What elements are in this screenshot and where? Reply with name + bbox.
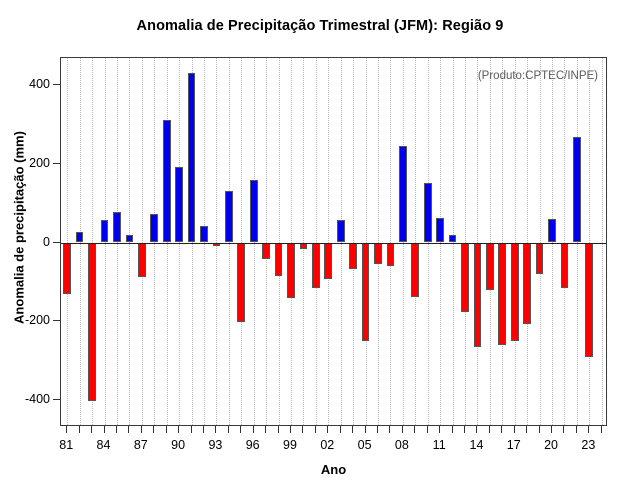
x-tick-label: 96 (246, 438, 260, 452)
x-tick (290, 426, 291, 433)
x-tick-label: 84 (97, 438, 111, 452)
plot-area: (Produto:CPTEC/INPE) (60, 57, 607, 426)
x-tick (452, 426, 453, 433)
x-tick (91, 426, 92, 433)
x-axis: 818487909396990205081114172023 Ano (60, 426, 607, 486)
x-tick-label: 11 (433, 438, 446, 452)
bar (324, 243, 332, 279)
x-tick (340, 426, 341, 433)
y-tick (53, 242, 60, 243)
x-tick (352, 426, 353, 433)
x-tick (464, 426, 465, 433)
x-axis-title: Ano (60, 462, 607, 477)
y-tick-label: -200 (25, 313, 50, 327)
x-tick-label: 20 (544, 438, 558, 452)
x-tick (539, 426, 540, 433)
x-tick (414, 426, 415, 433)
x-tick (489, 426, 490, 433)
bar (88, 243, 96, 402)
y-axis-title: Anomalia de precipitação (mm) (12, 63, 27, 393)
y-axis: -400-2000200400 Anomalia de precipitação… (0, 57, 60, 426)
y-tick-label: 400 (29, 77, 50, 91)
product-annotation: (Produto:CPTEC/INPE) (478, 70, 598, 82)
x-tick (302, 426, 303, 433)
x-tick-label: 23 (581, 438, 595, 452)
x-tick (104, 426, 105, 433)
x-tick (439, 426, 440, 433)
y-tick-label: 0 (43, 235, 50, 249)
x-tick (203, 426, 204, 433)
bar-group (61, 58, 606, 425)
x-tick-label: 99 (283, 438, 297, 452)
y-tick (53, 399, 60, 400)
bar (411, 243, 419, 298)
x-tick (551, 426, 552, 433)
x-tick (141, 426, 142, 433)
x-tick (601, 426, 602, 433)
x-tick (563, 426, 564, 433)
x-tick-label: 81 (59, 438, 73, 452)
bar (498, 243, 506, 345)
x-tick (253, 426, 254, 433)
x-tick-label: 05 (358, 438, 372, 452)
bar (200, 226, 208, 242)
x-tick (501, 426, 502, 433)
x-tick (128, 426, 129, 433)
x-tick-label: 08 (395, 438, 409, 452)
x-tick (327, 426, 328, 433)
bar (486, 243, 494, 290)
bar (585, 243, 593, 358)
x-tick (526, 426, 527, 433)
bar (163, 120, 171, 242)
x-tick (228, 426, 229, 433)
bar (237, 243, 245, 322)
y-tick-label: 200 (29, 156, 50, 170)
x-tick (402, 426, 403, 433)
chart-page: Anomalia de Precipitação Trimestral (JFM… (0, 0, 640, 500)
bar (536, 243, 544, 274)
x-tick (576, 426, 577, 433)
bar (399, 146, 407, 243)
bar (175, 167, 183, 243)
x-tick-label: 02 (320, 438, 334, 452)
bar (138, 243, 146, 278)
bar (573, 137, 581, 243)
bar (449, 235, 457, 242)
bar (362, 243, 370, 341)
zero-baseline (61, 243, 606, 244)
bar (436, 218, 444, 242)
bar (312, 243, 320, 289)
y-tick (53, 320, 60, 321)
x-tick (215, 426, 216, 433)
x-tick (514, 426, 515, 433)
bar (523, 243, 531, 325)
bar (511, 243, 519, 342)
x-tick (315, 426, 316, 433)
bar (225, 191, 233, 242)
bar (300, 243, 308, 250)
x-tick (116, 426, 117, 433)
bar (150, 214, 158, 243)
y-tick (53, 84, 60, 85)
bar (349, 243, 357, 270)
bar (287, 243, 295, 298)
x-tick (191, 426, 192, 433)
bar (113, 212, 121, 243)
x-tick (377, 426, 378, 433)
bar (424, 183, 432, 242)
x-tick (166, 426, 167, 433)
x-tick (365, 426, 366, 433)
x-tick-label: 17 (507, 438, 521, 452)
y-tick (53, 163, 60, 164)
bar (126, 235, 134, 243)
x-tick (79, 426, 80, 433)
bar (337, 220, 345, 242)
x-tick (265, 426, 266, 433)
x-tick (178, 426, 179, 433)
bar (561, 243, 569, 288)
x-tick (389, 426, 390, 433)
bar (474, 243, 482, 347)
x-tick-label: 14 (470, 438, 484, 452)
x-tick (427, 426, 428, 433)
x-tick (153, 426, 154, 433)
x-tick-label: 93 (208, 438, 222, 452)
bar (188, 73, 196, 243)
bar (275, 243, 283, 276)
y-tick-label: -400 (25, 392, 50, 406)
bar (76, 232, 84, 243)
chart-title: Anomalia de Precipitação Trimestral (JFM… (0, 18, 640, 34)
bar (387, 243, 395, 266)
bar (101, 220, 109, 243)
bar (262, 243, 270, 259)
bar (548, 219, 556, 242)
x-tick (476, 426, 477, 433)
x-tick (278, 426, 279, 433)
bar (374, 243, 382, 265)
bar (250, 180, 258, 242)
bar (63, 243, 71, 294)
x-tick (66, 426, 67, 433)
x-tick-label: 87 (134, 438, 148, 452)
x-tick-label: 90 (171, 438, 185, 452)
bar (461, 243, 469, 313)
x-tick (588, 426, 589, 433)
x-tick (240, 426, 241, 433)
